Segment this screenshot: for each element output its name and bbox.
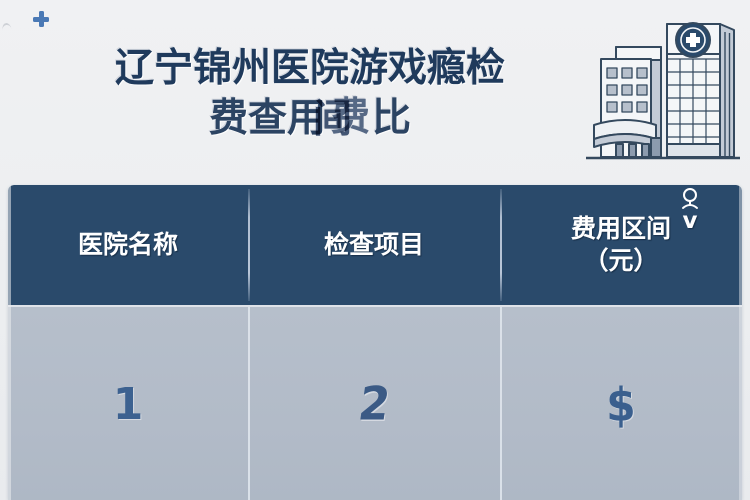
title-garbled-glyphs: 用间费 <box>287 94 326 144</box>
cell-fee-range: $ <box>500 307 742 500</box>
title-line-2: 费查用间费比 <box>209 94 411 144</box>
page-title: 辽宁锦州医院游戏瘾检 费查用间费比 <box>60 44 560 144</box>
cell-exam-item-value: 2 <box>355 378 393 432</box>
header-badge: v <box>679 187 701 233</box>
title-line-1: 辽宁锦州医院游戏瘾检 <box>60 44 560 94</box>
plus-icon <box>33 11 49 27</box>
table-right-edge <box>739 185 742 500</box>
arc-speck-icon <box>1 22 11 32</box>
hospital-illustration <box>568 2 744 174</box>
title-line2-prefix: 费查 <box>209 96 287 141</box>
title-glyph-c: 费 <box>331 93 370 143</box>
body-divider-1 <box>248 307 250 500</box>
header-divider-1 <box>248 189 250 301</box>
body-divider-2 <box>500 307 502 500</box>
cell-hospital-name: 1 <box>8 307 248 500</box>
cell-fee-range-value: $ <box>606 378 635 432</box>
table-header-fee-range-line1: 费用区间 <box>571 214 671 243</box>
table-header-hospital-name: 医院名称 <box>8 185 248 305</box>
cell-hospital-name-value: 1 <box>113 379 144 430</box>
table-header-row: 医院名称 检查项目 费用区间 （元） v <box>8 185 742 305</box>
cell-exam-item: 2 <box>248 307 500 500</box>
header-badge-letter: v <box>679 211 701 231</box>
header-divider-2 <box>500 189 502 301</box>
poster-canvas: 辽宁锦州医院游戏瘾检 费查用间费比 <box>0 0 750 500</box>
table-header-fee-range: 费用区间 （元） v <box>500 185 742 305</box>
table-left-edge <box>8 185 11 500</box>
comparison-table: 医院名称 检查项目 费用区间 （元） v <box>8 185 742 500</box>
table-row: 1 2 $ <box>8 305 742 500</box>
title-line2-suffix: 比 <box>372 96 411 141</box>
table-header-fee-range-line2: （元） <box>583 246 658 275</box>
table-header-exam-item: 检查项目 <box>248 185 500 305</box>
